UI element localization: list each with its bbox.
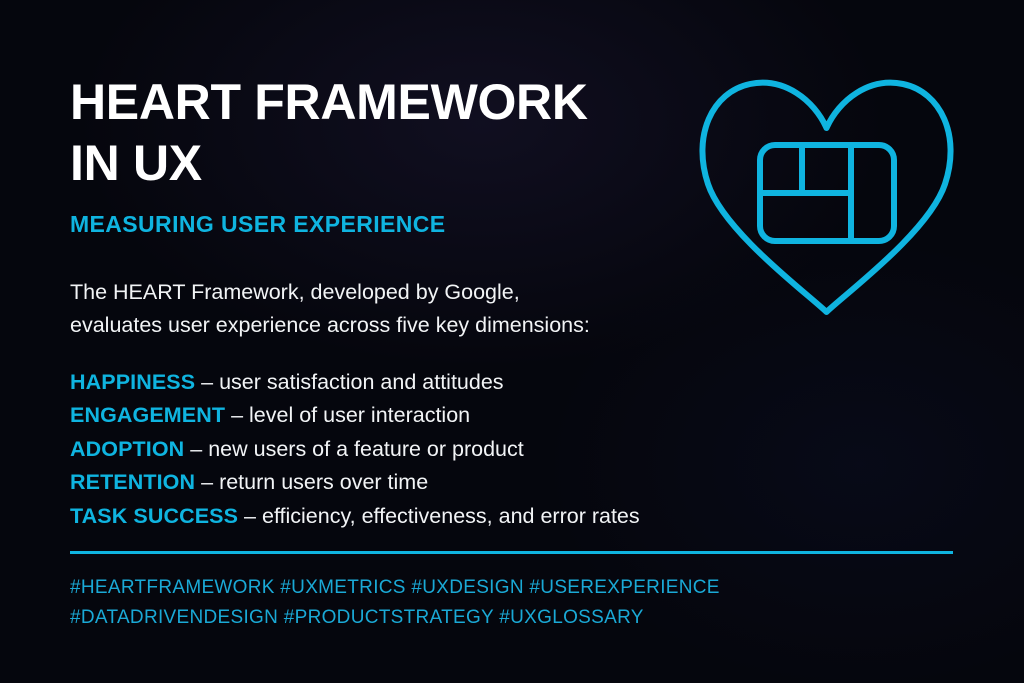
intro-line-1: The HEART Framework, developed by Google… [70,276,590,309]
metric-term: HAPPINESS [70,370,195,394]
metric-dash: – [201,370,213,394]
metric-description: efficiency, effectiveness, and error rat… [262,504,640,528]
metric-term: ENGAGEMENT [70,403,225,427]
heart-metrics-list: HAPPINESS – user satisfaction and attitu… [70,366,640,533]
page-subtitle: MEASURING USER EXPERIENCE [70,211,446,238]
metric-description: return users over time [219,470,428,494]
page-title-line-1: HEART FRAMEWORK [70,72,680,133]
metric-row: RETENTION – return users over time [70,466,640,499]
metric-row: HAPPINESS – user satisfaction and attitu… [70,366,640,399]
metric-dash: – [231,403,243,427]
hashtag-line-1: #HEARTFRAMEWORK #UXMETRICS #UXDESIGN #US… [70,573,720,603]
metric-dash: – [190,437,202,461]
heart-framework-poster: HEART FRAMEWORK IN UX MEASURING USER EXP… [0,0,1024,683]
horizontal-divider [70,551,953,554]
metric-description: new users of a feature or product [208,437,524,461]
metric-term: TASK SUCCESS [70,504,238,528]
metric-term: RETENTION [70,470,195,494]
heart-outline [702,83,950,312]
intro-paragraph: The HEART Framework, developed by Google… [70,276,590,341]
heart-with-layout-grid-icon [690,66,970,322]
metric-description: user satisfaction and attitudes [219,370,503,394]
metric-dash: – [244,504,256,528]
hashtag-line-2: #DATADRIVENDESIGN #PRODUCTSTRATEGY #UXGL… [70,603,720,633]
metric-dash: – [201,470,213,494]
metric-term: ADOPTION [70,437,184,461]
page-title-line-2: IN UX [70,133,680,194]
metric-row: ADOPTION – new users of a feature or pro… [70,433,640,466]
page-title: HEART FRAMEWORK IN UX [70,72,680,194]
intro-line-2: evaluates user experience across five ke… [70,309,590,342]
hashtag-block: #HEARTFRAMEWORK #UXMETRICS #UXDESIGN #US… [70,573,720,633]
metric-row: TASK SUCCESS – efficiency, effectiveness… [70,500,640,533]
metric-row: ENGAGEMENT – level of user interaction [70,399,640,432]
metric-description: level of user interaction [249,403,470,427]
